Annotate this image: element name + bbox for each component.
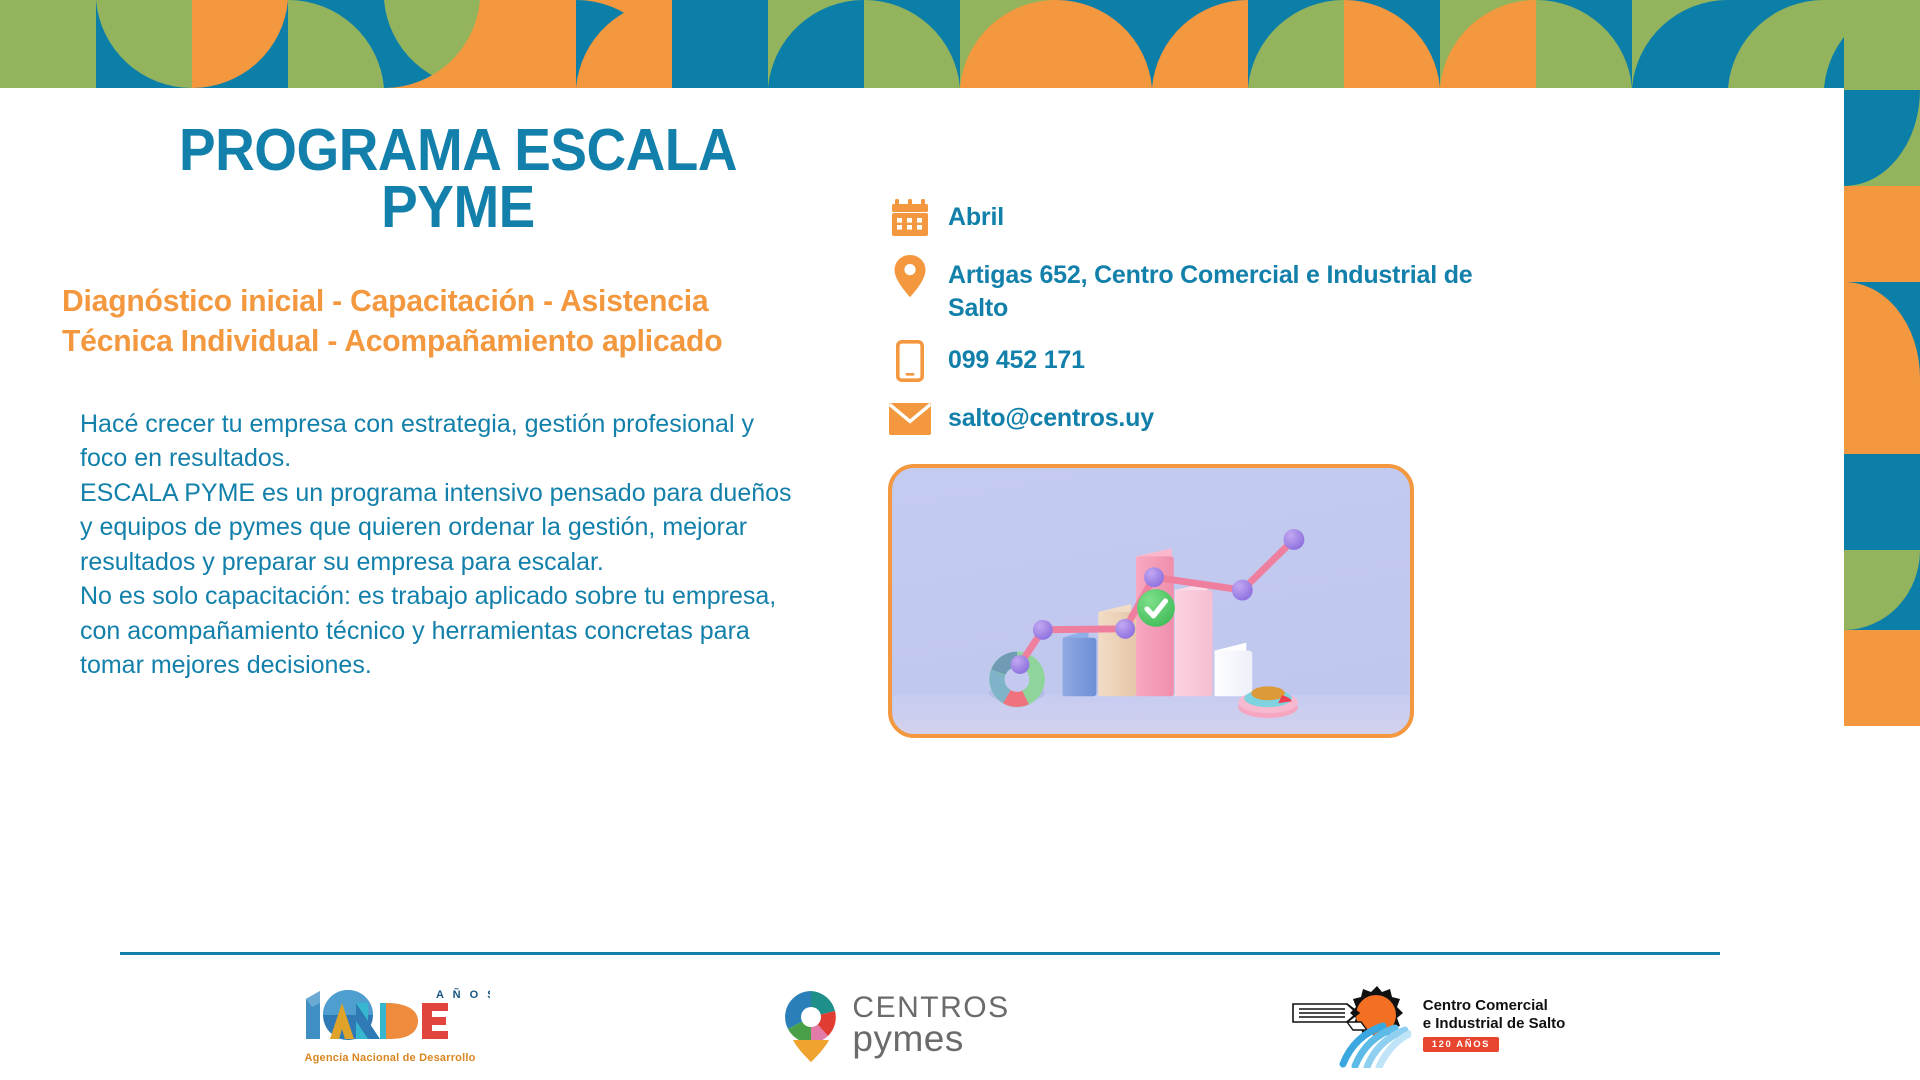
page-title: PROGRAMA ESCALA PYME	[86, 122, 830, 235]
contact-email-label: salto@centros.uy	[948, 397, 1154, 435]
program-subtitle-line1: Diagnóstico inicial - Capacitación - Asi…	[62, 281, 834, 321]
body-paragraph-3: No es solo capacitación: es trabajo apli…	[80, 579, 800, 683]
ccis-line2: e Industrial de Salto	[1423, 1015, 1566, 1033]
phone-icon	[886, 339, 934, 383]
page-title-line2: PYME	[86, 179, 830, 236]
top-decorative-pattern	[0, 0, 1920, 88]
contact-address-label: Artigas 652, Centro Comercial e Industri…	[948, 254, 1493, 325]
page-title-line1: PROGRAMA ESCALA	[86, 122, 830, 179]
footer-logos: A Ñ O S Agencia Nacional de Desarrollo C…	[120, 975, 1720, 1075]
check-badge-icon	[1137, 589, 1175, 627]
centros-pymes-logo: CENTROS pymes	[660, 975, 1130, 1075]
contact-list: Abril Artigas 652, Centro Comercial e In…	[886, 196, 1506, 455]
ande-anios-label: A Ñ O S	[436, 988, 490, 1001]
centro-comercial-industrial-salto-logo: Centro Comercial e Industrial de Salto 1…	[1130, 975, 1720, 1075]
right-pattern-svg	[1844, 0, 1920, 726]
contact-phone-label: 099 452 171	[948, 339, 1085, 377]
left-content-column: PROGRAMA ESCALA PYME Diagnóstico inicial…	[58, 122, 858, 683]
right-decorative-pattern	[1844, 0, 1920, 726]
body-copy: Hacé crecer tu empresa con estrategia, g…	[80, 407, 800, 683]
centros-pymes-logo-mark	[780, 986, 842, 1064]
ande-tagline: Agencia Nacional de Desarrollo	[290, 1052, 490, 1064]
contact-row-email: salto@centros.uy	[886, 397, 1506, 441]
ccis-badge: 120 AÑOS	[1423, 1037, 1499, 1052]
top-pattern-svg	[0, 0, 1920, 88]
ande-logo-mark: A Ñ O S	[290, 987, 490, 1045]
contact-date-label: Abril	[948, 196, 1004, 234]
location-pin-icon	[886, 254, 934, 298]
ande-logo: A Ñ O S Agencia Nacional de Desarrollo	[120, 975, 660, 1075]
ccis-line1: Centro Comercial	[1423, 997, 1566, 1015]
envelope-icon	[886, 397, 934, 441]
3d-growth-chart-illustration	[888, 464, 1414, 738]
program-subtitle-line2: Técnica Individual - Acompañamiento apli…	[62, 321, 834, 361]
contact-row-address: Artigas 652, Centro Comercial e Industri…	[886, 254, 1506, 325]
footer-divider	[120, 952, 1720, 955]
calendar-icon	[886, 196, 934, 240]
body-paragraph-2: ESCALA PYME es un programa intensivo pen…	[80, 476, 800, 580]
ccis-logo-mark	[1285, 982, 1411, 1068]
contact-row-date: Abril	[886, 196, 1506, 240]
program-subtitle: Diagnóstico inicial - Capacitación - Asi…	[62, 281, 834, 360]
contact-row-phone: 099 452 171	[886, 339, 1506, 383]
centros-pymes-line2: pymes	[852, 1022, 1009, 1056]
body-paragraph-1: Hacé crecer tu empresa con estrategia, g…	[80, 407, 800, 476]
illustration-svg	[892, 468, 1410, 734]
